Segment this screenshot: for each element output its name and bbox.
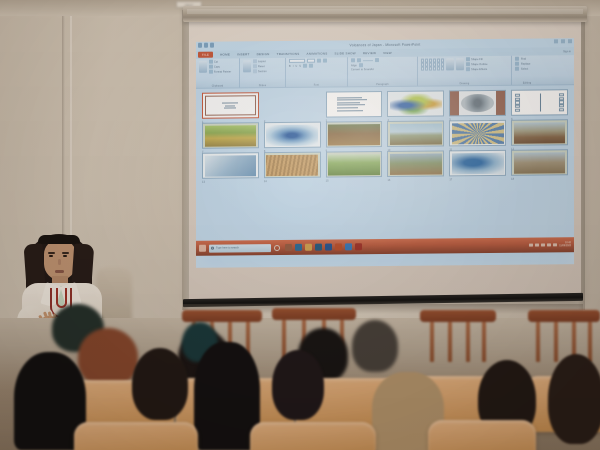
projection-screen-housing [183,6,587,22]
replace-label: Replace [521,62,530,65]
slide-thumbnail-12[interactable] [511,119,568,146]
slide-cell[interactable]: 3 [326,91,383,118]
person-grey-hair [352,320,398,372]
ribbon-group-slides[interactable]: Layout Reset Section Slides [240,58,286,87]
presenter-eyebrow-right [62,252,69,254]
slide-cell[interactable]: 8 [264,122,321,149]
tab-file[interactable]: FILE [198,52,213,58]
convert-smartart-label[interactable]: Convert to SmartArt [351,68,374,71]
slide-thumbnail-7[interactable] [202,122,259,149]
slide-cell[interactable]: 7 [202,122,259,149]
presenter-eyebrow-left [48,252,55,254]
search-icon [211,247,214,250]
slide-cell[interactable]: 6 [511,89,568,116]
word-icon[interactable] [325,244,332,251]
media-icon[interactable] [355,243,362,250]
font-color-icon[interactable] [309,64,313,68]
shape-outline-label: Shape Outline [471,63,487,66]
minimize-icon[interactable] [554,39,558,43]
undo-icon[interactable] [204,43,208,48]
system-tray[interactable]: 10:42 11/09/2023 [529,242,571,248]
slide-cell[interactable]: 1 [202,92,259,119]
shape-fill-icon[interactable] [466,57,470,61]
network-icon[interactable] [535,243,539,247]
taskbar-clock[interactable]: 10:42 11/09/2023 [559,242,571,248]
ribbon-group-editing[interactable]: Find Replace Select Editing [512,55,542,84]
slide-thumbnail-4[interactable] [387,90,444,117]
presenter-nose [58,259,61,265]
slide-cell[interactable]: 5 [449,90,506,117]
select-icon[interactable] [515,67,519,71]
powerpoint-icon[interactable] [335,243,342,250]
arrange-icon[interactable] [446,58,454,70]
select-label: Select [521,67,528,70]
layout-icon[interactable] [253,59,257,63]
account-sign-in[interactable]: Sign in [563,50,571,53]
tab-design[interactable]: DESIGN [257,52,270,56]
cut-label: Cut [214,60,218,63]
slide-sorter-canvas[interactable]: 1 2 3 [196,85,574,241]
slide-cell[interactable]: 15 [326,151,383,178]
tab-slide-show[interactable]: SLIDE SHOW [334,51,355,55]
decrease-font-icon[interactable] [323,59,327,63]
slide-number: 15 [326,179,329,182]
slide-thumbnail-5[interactable] [449,90,506,117]
person-front-2 [132,348,188,420]
indent-icon[interactable] [375,58,379,62]
maximize-icon[interactable] [561,39,565,43]
redo-icon[interactable] [210,43,214,48]
slide-thumbnail-3[interactable] [326,91,383,118]
person-far-right [548,354,600,444]
find-label: Find [521,57,526,60]
character-spacing-icon[interactable] [303,64,307,68]
copy-label: Copy [214,65,220,68]
slide-thumbnail-10[interactable] [387,120,444,147]
person-front-4 [272,350,324,420]
auditorium-seat [250,422,376,450]
slide-cell[interactable]: 2 [264,92,321,119]
audience-area [0,318,600,450]
paste-icon[interactable] [199,61,207,73]
person-auburn [78,328,138,386]
slide-number: 16 [387,178,390,181]
clock-date: 11/09/2023 [559,245,571,248]
presenter-headband [38,235,80,244]
layout-label: Layout [258,60,266,63]
slide-thumbnail-1[interactable] [202,92,259,119]
ribbon-group-font[interactable]: B I U S Font [286,57,348,87]
shape-effects-label: Shape Effects [471,68,487,71]
underline-icon[interactable]: U [295,64,297,67]
tab-insert[interactable]: INSERT [237,52,249,56]
slide-number: 13 [202,180,205,183]
shapes-gallery[interactable] [421,59,444,70]
align-label[interactable]: Align [351,64,357,67]
slide-thumbnail-17[interactable] [449,150,506,177]
slide-cell[interactable]: 16 [387,150,444,177]
slide-thumbnail-6[interactable] [511,89,568,116]
tab-transitions[interactable]: TRANSITIONS [277,52,300,56]
slide-cell[interactable]: 11 [449,120,506,147]
increase-font-icon[interactable] [317,59,321,63]
ribbon-group-paragraph[interactable]: Align Convert to SmartArt Paragraph [348,57,418,87]
ribbon[interactable]: Cut Copy Format Painter Clipboard Layout… [196,55,574,89]
presenter-necklace-inner [56,288,67,308]
edge-icon[interactable] [295,244,302,251]
format-painter-icon[interactable] [209,70,213,74]
cut-icon[interactable] [209,60,213,64]
slide-thumbnail-15[interactable] [326,151,383,178]
volume-icon[interactable] [541,243,545,247]
slide-cell[interactable]: 10 [387,120,444,147]
presenter-mouth [55,270,64,273]
replace-icon[interactable] [515,62,519,66]
slide-number: 17 [449,178,452,181]
bold-icon[interactable]: B [289,64,291,67]
slide-thumbnail-16[interactable] [387,150,444,177]
find-icon[interactable] [515,57,519,61]
numbering-icon[interactable] [357,58,361,62]
slide-cell[interactable]: 12 [511,119,568,146]
search-input[interactable]: Type here to search [209,244,271,253]
chrome-icon[interactable] [345,243,352,250]
ribbon-group-drawing[interactable]: Shape Fill Shape Outline Shape Effects D… [418,56,512,86]
battery-icon[interactable] [547,243,551,247]
reset-icon[interactable] [253,64,257,68]
shape-outline-icon[interactable] [466,62,470,66]
slide-thumbnail-13[interactable] [202,152,259,179]
reset-label: Reset [258,65,265,68]
slide-number: 18 [511,177,514,180]
slide-cell[interactable]: 9 [326,121,383,148]
quick-styles-icon[interactable] [456,58,464,70]
format-painter-label: Format Painter [214,70,231,73]
section-label: Section [258,70,267,73]
tab-home[interactable]: HOME [220,52,230,56]
powerpoint-window[interactable]: Volcanoes of Japan - Microsoft PowerPoin… [196,38,574,268]
quick-access-toolbar[interactable] [198,43,214,48]
slide-cell[interactable]: 14 [264,152,321,179]
onedrive-icon[interactable] [529,243,533,247]
font-name-box[interactable] [289,59,305,63]
italic-icon[interactable]: I [293,64,294,67]
slide-thumbnail-8[interactable] [264,122,321,149]
ribbon-group-clipboard[interactable]: Cut Copy Format Painter Clipboard [196,58,240,87]
shape-fill-label: Shape Fill [471,58,483,61]
slides-group-label: Slides [240,84,285,87]
tab-review[interactable]: REVIEW [363,51,376,55]
file-explorer-icon[interactable] [305,244,312,251]
slide-thumbnail-11[interactable] [449,120,506,147]
clipboard-group-label: Clipboard [196,84,239,87]
tab-animations[interactable]: ANIMATIONS [307,52,328,56]
slide-number: 14 [264,180,267,183]
screen-edge-left [182,10,189,310]
close-icon[interactable] [568,39,572,43]
tab-view[interactable]: VIEW [383,51,392,55]
language-icon[interactable] [553,243,557,247]
slide-thumbnail-14[interactable] [264,152,321,179]
wooden-chair [420,310,496,376]
auditorium-seat [74,422,198,450]
search-placeholder: Type here to search [216,246,239,249]
bullets-icon[interactable] [351,58,355,62]
save-icon[interactable] [198,43,202,48]
font-group-label: Font [286,83,347,87]
task-view-icon[interactable] [285,244,292,251]
slide-cell[interactable]: 13 [202,152,259,179]
line-spacing-icon[interactable] [359,63,363,67]
copy-icon[interactable] [209,65,213,69]
slide-thumbnail-grid[interactable]: 1 2 3 [202,89,568,179]
auditorium-seat [428,420,536,450]
slide-cell[interactable]: 18 [511,149,568,176]
shape-effects-icon[interactable] [466,67,470,71]
slide-cell[interactable]: 4 [387,90,444,117]
store-icon[interactable] [315,244,322,251]
window-title: Volcanoes of Japan - Microsoft PowerPoin… [349,42,420,47]
section-icon[interactable] [253,69,257,73]
slide-cell[interactable]: 17 [449,150,506,177]
slide-thumbnail-9[interactable] [326,121,383,148]
editing-group-label: Editing [512,81,542,84]
strikethrough-icon[interactable]: S [299,64,301,67]
taskbar-pinned-apps[interactable] [285,243,362,251]
start-icon[interactable] [199,245,206,252]
new-slide-icon[interactable] [243,60,251,72]
cortana-icon[interactable] [274,245,280,251]
windows-taskbar[interactable]: Type here to search 10:42 [196,237,574,256]
lecture-hall-scene: VENT Volcanoes of Japan - Microsoft Powe… [0,0,600,450]
window-controls[interactable] [554,39,572,43]
font-size-box[interactable] [307,59,315,63]
slide-thumbnail-18[interactable] [511,149,568,176]
